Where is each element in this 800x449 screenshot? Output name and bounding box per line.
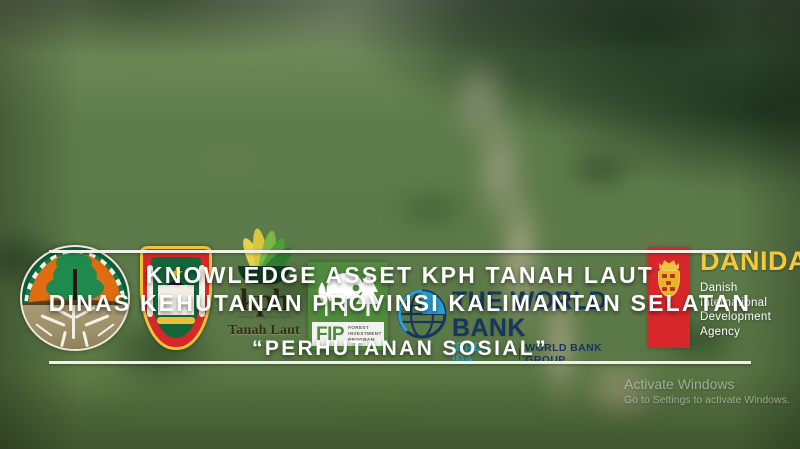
title-text: KNOWLEDGE ASSET KPH TANAH LAUT DINAS KEH… — [0, 253, 800, 361]
title-line-1: KNOWLEDGE ASSET KPH TANAH LAUT — [0, 261, 800, 289]
partner-logo-strip: kph Kesatuan Pengelolaan Hutan Tanah Lau… — [0, 110, 800, 245]
watermark-subtitle: Go to Settings to activate Windows. — [624, 393, 800, 407]
video-frame: kph Kesatuan Pengelolaan Hutan Tanah Lau… — [0, 0, 800, 449]
title-line-2: DINAS KEHUTANAN PROVINSI KALIMANTAN SELA… — [0, 289, 800, 317]
watermark-title: Activate Windows — [624, 376, 800, 393]
title-subtitle: “PERHUTANAN SOSIAL” — [0, 337, 800, 361]
title-block: KNOWLEDGE ASSET KPH TANAH LAUT DINAS KEH… — [0, 250, 800, 361]
title-rule-bottom — [49, 361, 751, 364]
windows-activation-watermark: Activate Windows Go to Settings to activ… — [624, 376, 800, 407]
